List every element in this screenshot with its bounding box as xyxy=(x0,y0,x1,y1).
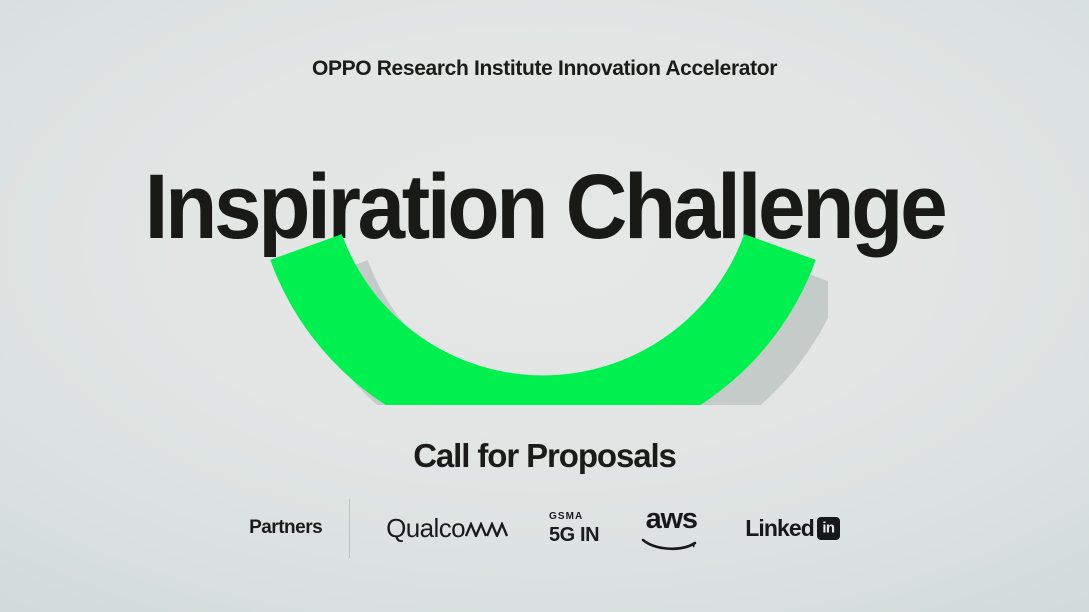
qualcomm-wordmark: Qualco xyxy=(386,513,509,544)
partners-label: Partners xyxy=(249,517,322,539)
partner-logo-qualcomm: Qualco xyxy=(386,513,509,544)
gsma-lockup: GSMA 5G IN xyxy=(549,512,599,545)
linkedin-wordmark: Linked xyxy=(745,515,814,542)
aws-lockup: aws xyxy=(641,505,701,552)
eyebrow-text: OPPO Research Institute Innovation Accel… xyxy=(0,57,1089,81)
gsma-top-line: GSMA xyxy=(549,512,583,522)
gsma-bottom-line: 5G IN xyxy=(549,525,599,545)
linkedin-badge-label: in xyxy=(822,520,834,535)
partners-row: Partners Qualco GSMA 5G IN aws xyxy=(0,497,1089,559)
aws-wordmark: aws xyxy=(646,505,697,534)
qualcomm-mm-glyph-icon xyxy=(465,522,509,537)
partner-logo-linkedin: Linked in xyxy=(745,515,840,542)
call-for-proposals-text: Call for Proposals xyxy=(0,437,1089,475)
partners-divider xyxy=(349,499,350,558)
linkedin-badge-icon: in xyxy=(817,517,840,540)
presentation-slide: OPPO Research Institute Innovation Accel… xyxy=(0,0,1089,612)
partner-logo-aws: aws xyxy=(641,505,701,552)
arc-green-icon xyxy=(306,247,780,405)
partner-logo-gsma: GSMA 5G IN xyxy=(549,512,599,545)
linkedin-lockup: Linked in xyxy=(745,515,840,542)
green-smile-arc xyxy=(258,205,828,405)
qualcomm-word-main: Qualco xyxy=(386,513,465,544)
aws-swoosh-icon xyxy=(641,536,701,552)
